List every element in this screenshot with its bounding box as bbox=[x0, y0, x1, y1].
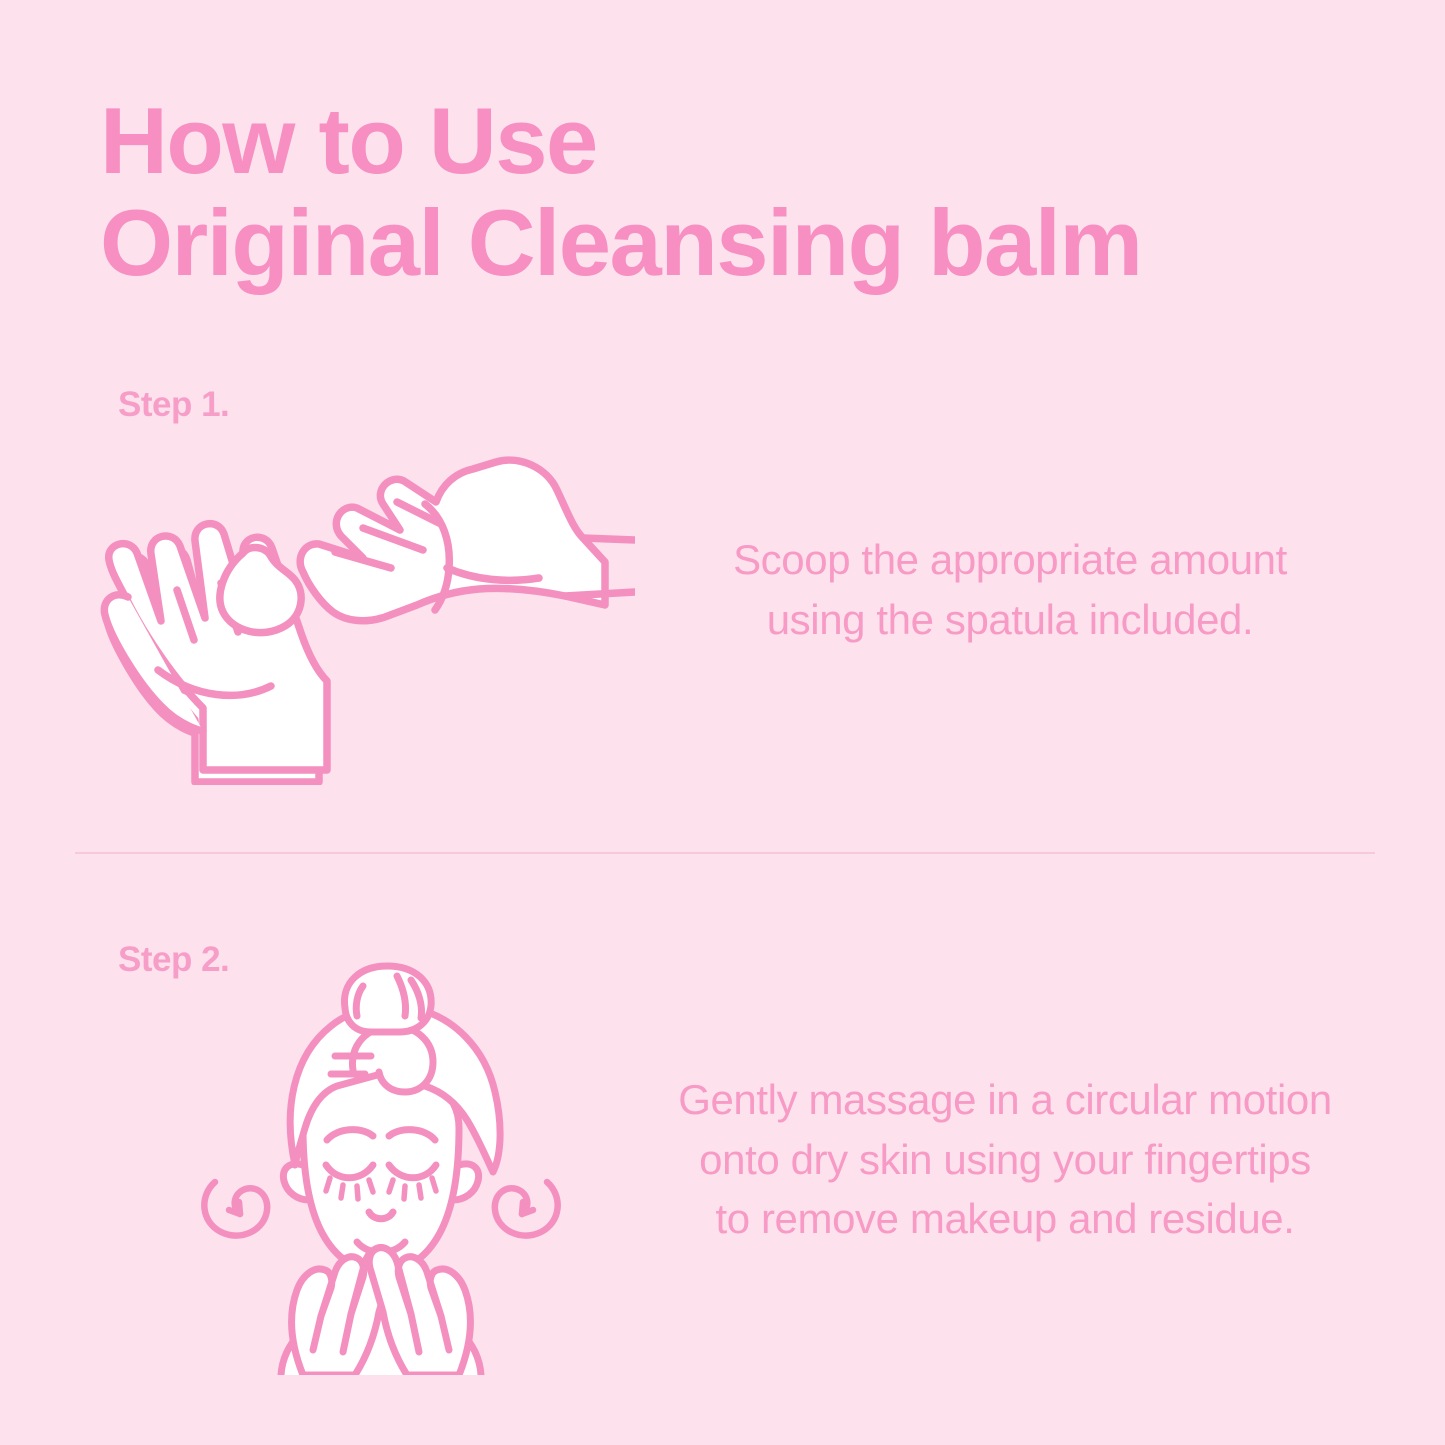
step-2-section: Step 2. bbox=[0, 940, 1445, 1370]
page-title-line-2: Original Cleansing balm bbox=[100, 192, 1300, 294]
step-1-text: Scoop the appropriate amount using the s… bbox=[660, 530, 1360, 649]
how-to-use-panel: How to Use Original Cleansing balm Step … bbox=[0, 0, 1445, 1445]
step-2-text-line-2: onto dry skin using your fingertips bbox=[640, 1130, 1370, 1190]
page-title: How to Use Original Cleansing balm bbox=[100, 90, 1300, 293]
step-2-text: Gently massage in a circular motion onto… bbox=[640, 1070, 1370, 1249]
step-1-text-line-1: Scoop the appropriate amount bbox=[660, 530, 1360, 590]
step-1-text-line-2: using the spatula included. bbox=[660, 590, 1360, 650]
step-1-section: Step 1. bbox=[0, 385, 1445, 805]
step-2-text-line-1: Gently massage in a circular motion bbox=[640, 1070, 1370, 1130]
page-title-line-1: How to Use bbox=[100, 90, 1300, 192]
hands-scooping-balm-full-icon bbox=[95, 440, 635, 785]
section-divider bbox=[75, 852, 1375, 854]
woman-massaging-face-icon bbox=[185, 960, 605, 1375]
step-1-label: Step 1. bbox=[118, 385, 229, 425]
step-2-text-line-3: to remove makeup and residue. bbox=[640, 1189, 1370, 1249]
